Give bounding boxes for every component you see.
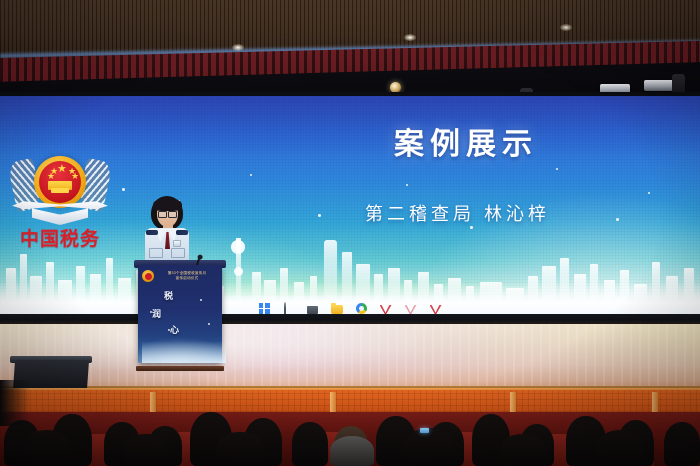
search-icon[interactable] bbox=[283, 303, 294, 314]
file-explorer-icon[interactable] bbox=[331, 305, 343, 314]
tax-bureau-emblem-mini-icon bbox=[142, 270, 154, 282]
audience-head-front bbox=[216, 432, 264, 466]
podium-header-line-2: 宣传启动仪式 bbox=[176, 276, 199, 280]
audience-head-front bbox=[330, 436, 374, 466]
podium-slogan-char-3: 心 bbox=[170, 323, 179, 336]
star-large-icon: ★ bbox=[57, 165, 67, 174]
speaker-hair-front bbox=[153, 198, 182, 211]
ceiling-downlight-icon bbox=[232, 44, 244, 51]
slide-subtitle: 第二稽查局 林沁梓 bbox=[365, 200, 550, 226]
wps-office-icon-3[interactable] bbox=[430, 304, 442, 314]
podium-foot bbox=[136, 366, 224, 371]
ceiling-downlight-icon bbox=[404, 34, 416, 41]
tiananmen-base-icon bbox=[51, 188, 69, 193]
stage-floor-reflection bbox=[0, 324, 700, 390]
audience-head-front bbox=[24, 430, 70, 466]
star-small-icon: ★ bbox=[71, 172, 79, 181]
emblem-brand-text: 中国税务 bbox=[8, 224, 112, 251]
ceiling-downlight-icon bbox=[560, 24, 572, 31]
house-left-shadow bbox=[0, 380, 30, 426]
windows-start-icon[interactable] bbox=[259, 303, 270, 314]
glasses-icon bbox=[158, 211, 177, 216]
china-tax-emblem: ★ ★ ★ ★ ★ 中国税务 bbox=[8, 154, 112, 250]
speaker-epaulette-right bbox=[176, 230, 188, 235]
podium-slogan-char-1: 税 bbox=[164, 289, 173, 302]
audience-head-front bbox=[404, 428, 454, 466]
audience-head-front bbox=[500, 434, 546, 466]
speaker-podium: 第33个全国税收宣传月 宣传启动仪式 税 润 心 bbox=[134, 255, 226, 368]
podium-slogan-calligraphy: 税 润 心 bbox=[144, 289, 216, 341]
stage-floor bbox=[0, 324, 700, 390]
speaker-name-badge bbox=[173, 240, 181, 247]
tower-sphere-small-icon bbox=[234, 267, 243, 276]
tower-sphere-icon bbox=[231, 240, 245, 254]
speaker-epaulette-left bbox=[146, 230, 158, 235]
podium-header-banner: 第33个全国税收宣传月 宣传启动仪式 bbox=[142, 269, 218, 283]
task-view-icon[interactable] bbox=[307, 306, 318, 314]
auditorium-stage-photo: ★ ★ ★ ★ ★ 中国税务 案例展示 第二稽查局 林沁梓 bbox=[0, 0, 700, 466]
stage-spotlight-icon bbox=[644, 80, 674, 91]
emblem-open-book-icon bbox=[32, 206, 88, 226]
audience-phone-screen bbox=[420, 428, 429, 433]
audience-head bbox=[292, 422, 328, 466]
star-small-icon: ★ bbox=[47, 172, 55, 181]
audience-head bbox=[664, 422, 700, 466]
audience-head-front bbox=[596, 430, 644, 466]
audience-head-front bbox=[124, 434, 168, 466]
wps-office-icon[interactable] bbox=[380, 304, 392, 314]
podium-slogan-char-2: 润 bbox=[152, 307, 161, 320]
slide-title: 案例展示 bbox=[394, 119, 538, 163]
screen-top-gradient bbox=[0, 96, 700, 156]
led-presentation-screen[interactable]: ★ ★ ★ ★ ★ 中国税务 案例展示 第二稽查局 林沁梓 bbox=[0, 96, 700, 316]
wps-office-icon-2[interactable] bbox=[405, 304, 417, 314]
podium-base-glow bbox=[142, 341, 226, 363]
chrome-browser-icon[interactable] bbox=[356, 303, 367, 314]
podium-header-line-1: 第33个全国税收宣传月 bbox=[168, 271, 207, 275]
